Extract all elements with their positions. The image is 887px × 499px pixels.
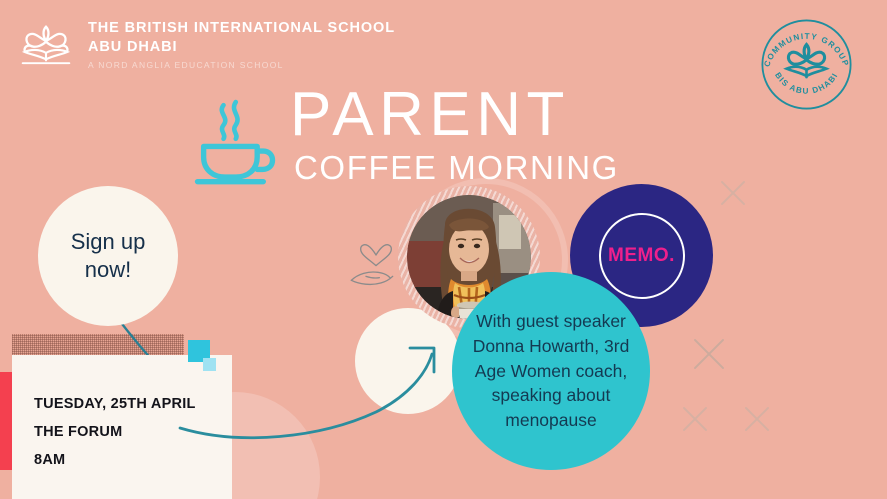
school-name-line2: ABU DHABI xyxy=(88,38,395,57)
sparkle-x-icon xyxy=(690,335,728,373)
signup-label: Sign up now! xyxy=(71,228,146,284)
sparkle-x-icon xyxy=(718,178,748,208)
coffee-cup-icon xyxy=(192,99,278,187)
school-name-line1: THE BRITISH INTERNATIONAL SCHOOL xyxy=(88,19,395,38)
hand-holding-heart-icon xyxy=(346,243,406,293)
speaker-description: With guest speaker Donna Howarth, 3rd Ag… xyxy=(462,309,640,432)
sparkle-x-icon xyxy=(742,404,772,434)
memo-label: MEMO. xyxy=(608,245,675,267)
poster-canvas: THE BRITISH INTERNATIONAL SCHOOL ABU DHA… xyxy=(0,0,887,499)
community-group-seal-icon: COMMUNITY GROUP BIS ABU DHABI xyxy=(754,12,859,117)
page-title: PARENT xyxy=(290,85,619,145)
page-subtitle: COFFEE MORNING xyxy=(294,151,619,184)
memo-ring: MEMO. xyxy=(599,213,685,299)
poster-title-block: PARENT COFFEE MORNING xyxy=(192,85,619,187)
curved-up-arrow-icon xyxy=(180,300,480,440)
school-tagline: A NORD ANGLIA EDUCATION SCHOOL xyxy=(88,60,395,70)
svg-text:COMMUNITY GROUP: COMMUNITY GROUP xyxy=(762,32,850,68)
badge-top-text: COMMUNITY GROUP xyxy=(762,32,850,68)
signup-button[interactable]: Sign up now! xyxy=(38,186,178,326)
brand-lockup: THE BRITISH INTERNATIONAL SCHOOL ABU DHA… xyxy=(18,16,395,70)
crown-book-logo-icon xyxy=(18,18,74,70)
speaker-info-circle: With guest speaker Donna Howarth, 3rd Ag… xyxy=(452,272,650,470)
sparkle-x-icon xyxy=(680,404,710,434)
event-time: 8AM xyxy=(34,447,232,475)
